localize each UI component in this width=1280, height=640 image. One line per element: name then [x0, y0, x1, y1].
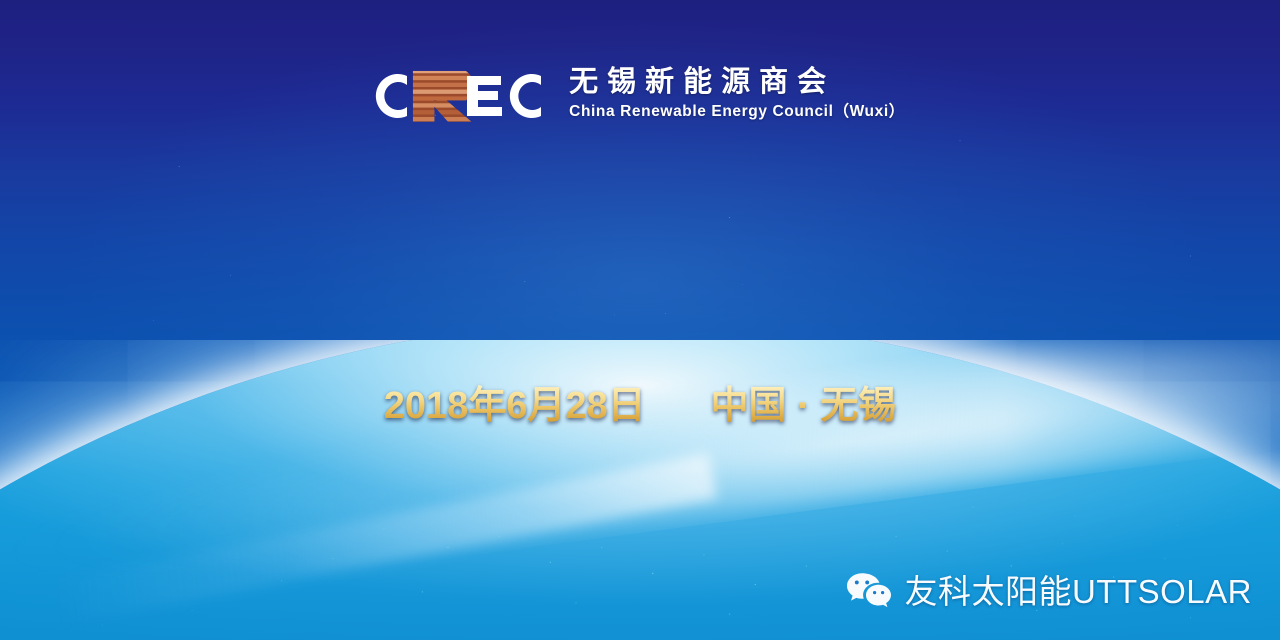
event-title: 无锡新能源商会换届选举大会 暨第二届首次会员代表大会	[0, 168, 1280, 337]
event-location: 中国 · 无锡	[711, 374, 897, 429]
event-title-line-1: 无锡新能源商会换届选举大会	[0, 168, 1280, 251]
letter-c-second	[510, 74, 541, 118]
wechat-watermark: 友科太阳能UTTSOLAR	[846, 572, 1252, 610]
letter-c-first	[376, 74, 407, 118]
event-date: 2018年6月28日	[384, 374, 646, 429]
event-title-line-2: 暨第二届首次会员代表大会	[0, 255, 1280, 338]
org-name-en: China Renewable Energy Council（Wuxi）	[569, 101, 905, 123]
wechat-account-name: 友科太阳能UTTSOLAR	[904, 575, 1252, 608]
cec-logo-mark	[375, 66, 547, 126]
crec-letters-icon	[375, 66, 547, 126]
event-meta: 2018年6月28日 中国 · 无锡	[0, 374, 1280, 429]
cec-logo-wordmark: 无锡新能源商会 China Renewable Energy Council（W…	[569, 67, 905, 124]
city-lights-speckle	[0, 455, 1280, 640]
org-name-cn: 无锡新能源商会	[569, 67, 905, 97]
wechat-icon	[846, 572, 892, 610]
conference-banner: 无锡新能源商会 China Renewable Energy Council（W…	[0, 0, 1280, 640]
atmosphere-tail	[55, 453, 717, 625]
cec-logo-lockup: 无锡新能源商会 China Renewable Energy Council（W…	[0, 66, 1280, 126]
letter-e	[467, 76, 502, 116]
